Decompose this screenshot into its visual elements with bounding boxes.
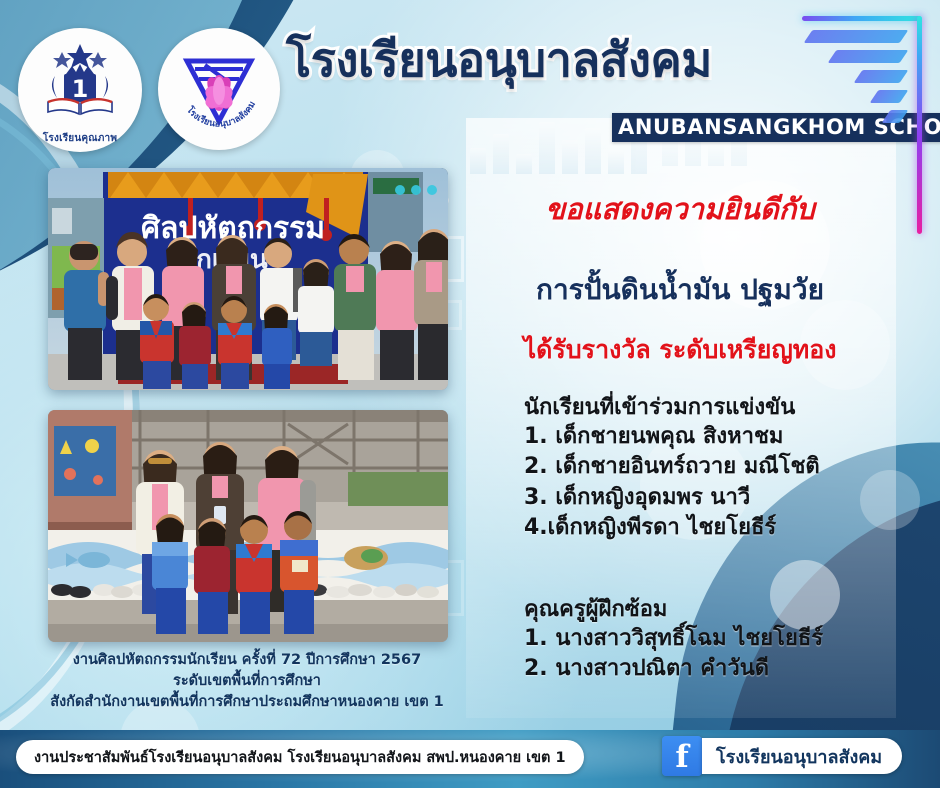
neon-horizontal-bar [802, 16, 922, 21]
footer-credit-text: งานประชาสัมพันธ์โรงเรียนอนุบาลสังคม โรงเ… [34, 746, 566, 769]
logo-anubansangkhom: โรงเรียนอนุบาลสังคม [158, 28, 280, 150]
teachers-list-block: คุณครูผู้ฝึกซ้อม 1. นางสาววิสุทธิ์โฉม ไช… [524, 595, 924, 685]
photo-caption: งานศิลปหัตถกรรมนักเรียน ครั้งที่ 72 ปีกา… [14, 650, 480, 713]
footer-credit-pill: งานประชาสัมพันธ์โรงเรียนอนุบาลสังคม โรงเ… [16, 740, 584, 774]
facebook-glyph: f [675, 742, 688, 773]
neon-chevron [804, 30, 909, 43]
page-title: โรงเรียนอนุบาลสังคม [286, 36, 712, 85]
photo-group-at-event-banner: ศิลปหัตถกรรม นักเรียน [48, 168, 448, 390]
facebook-page-name: โรงเรียนอนุบาลสังคม [716, 742, 882, 771]
student-list-item: 3. เด็กหญิงอุดมพร นาวี [524, 483, 924, 513]
neon-chevron [882, 110, 909, 123]
student-list-item: 1. เด็กชายนพคุณ สิงหาชม [524, 422, 924, 452]
photo-caption-line-1: งานศิลปหัตถกรรมนักเรียน ครั้งที่ 72 ปีกา… [14, 650, 480, 671]
student-list-item: 2. เด็กชายอินทร์ถวาย มณีโชติ [524, 452, 924, 482]
photo-caption-line-2: ระดับเขตพื้นที่การศึกษา [14, 671, 480, 692]
teacher-list-item: 1. นางสาววิสุทธิ์โฉม ไชยโยธีร์ [524, 624, 924, 654]
svg-text:1: 1 [72, 75, 89, 103]
students-heading: นักเรียนที่เข้าร่วมการแข่งขัน [524, 393, 924, 422]
neon-chevron [854, 70, 909, 83]
neon-vertical-bar [917, 16, 922, 234]
neon-chevron [828, 50, 909, 63]
congratulations-heading: ขอแสดงความยินดีกับ [470, 186, 890, 232]
logo-quality-caption: โรงเรียนคุณภาพ [43, 131, 117, 146]
teacher-list-item: 2. นางสาวปณิตา คำวันดี [524, 654, 924, 684]
student-list-item: 4.เด็กหญิงพีรดา ไชยโยธีร์ [524, 513, 924, 543]
students-list-block: นักเรียนที่เข้าร่วมการแข่งขัน 1. เด็กชาย… [524, 393, 924, 543]
facebook-icon[interactable]: f [662, 736, 702, 776]
logo-quality-school: 1 โรงเรียนคุณภาพ [18, 28, 142, 152]
award-category-title: การปั้นดินน้ำมัน ปฐมวัย [470, 268, 890, 312]
facebook-page-pill[interactable]: โรงเรียนอนุบาลสังคม [702, 738, 902, 774]
award-level-text: ได้รับรางวัล ระดับเหรียญทอง [470, 330, 890, 370]
photo-caption-line-3: สังกัดสำนักงานเขตพื้นที่การศึกษาประถมศึก… [14, 692, 480, 713]
poster-canvas: 1 โรงเรียนคุณภาพ [0, 0, 940, 788]
neon-chevron [870, 90, 909, 103]
teachers-heading: คุณครูผู้ฝึกซ้อม [524, 595, 924, 624]
photo-group-at-school-wall [48, 410, 448, 642]
